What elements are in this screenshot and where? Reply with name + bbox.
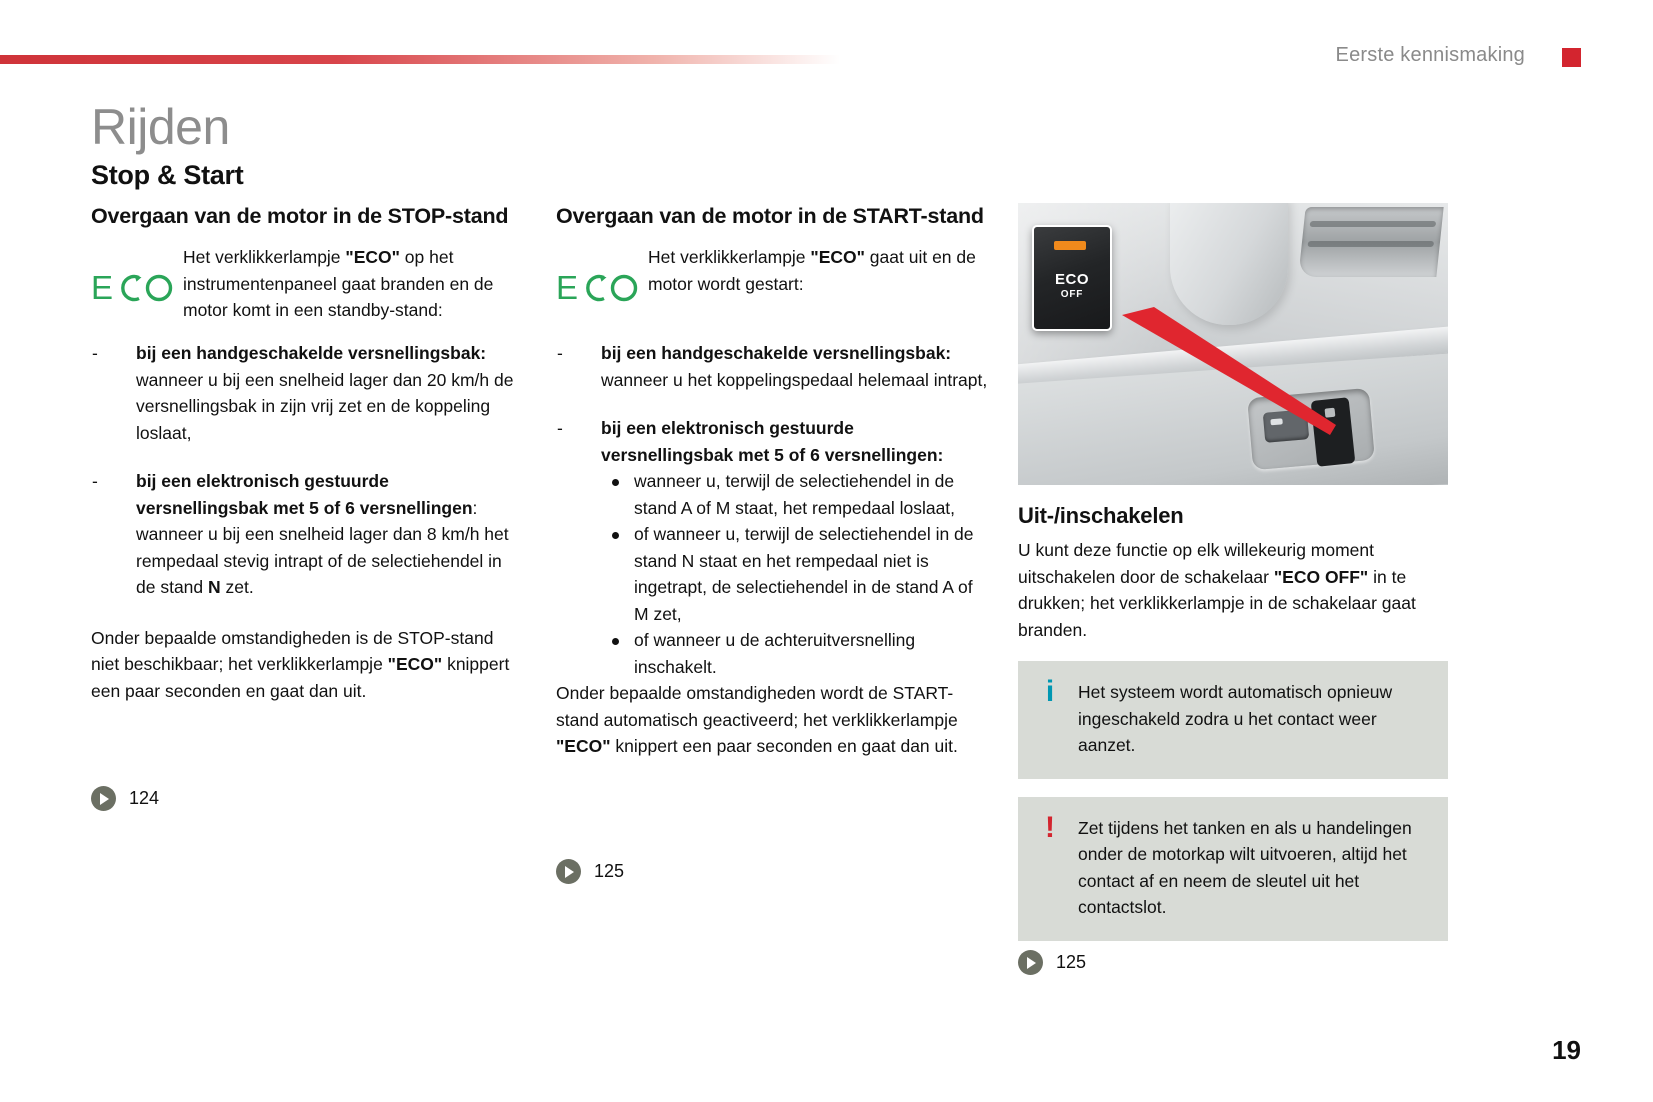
warning-note-box: ! Zet tijdens het tanken en als u handel…	[1018, 797, 1448, 941]
svg-text:E: E	[556, 270, 578, 306]
page-reference-number: 125	[594, 861, 624, 882]
bullet-stop-auto: - bij een elektronisch gestuurde versnel…	[91, 468, 523, 601]
info-note-text: Het systeem wordt automatisch opnieuw in…	[1078, 679, 1428, 759]
bullet-stop-auto-label: bij een elektronisch gestuurde versnelli…	[136, 471, 473, 518]
sub-bullet-item: of wanneer u de achteruitversnelling ins…	[612, 627, 988, 680]
gear-position-n: N	[208, 577, 221, 597]
eco-intro-stop-text: Het verklikkerlampje "ECO" op het instru…	[183, 244, 523, 324]
eco-off-led-indicator	[1054, 241, 1086, 250]
eco-off-button-callout: ECO OFF	[1032, 225, 1112, 331]
heading-start: Overgaan van de motor in de START-stand	[556, 203, 988, 230]
page-ref-arrow-icon	[91, 786, 116, 811]
heading-stop: Overgaan van de motor in de STOP-stand	[91, 203, 523, 230]
warning-note-text: Zet tijdens het tanken en als u handelin…	[1078, 815, 1428, 921]
eco-logo-icon: E	[556, 270, 642, 306]
sub-bullet-item: wanneer u, terwijl de selectiehendel in …	[612, 468, 988, 521]
dash-marker: -	[92, 340, 98, 367]
column-start: Overgaan van de motor in de START-stand …	[556, 203, 988, 760]
column-enable-disable: ECO OFF Uit-/inschakelen U kunt deze fun…	[1018, 203, 1448, 941]
dash-marker: -	[557, 340, 563, 367]
header-accent-rule	[0, 55, 840, 64]
info-note-box: i Het systeem wordt automatisch opnieuw …	[1018, 661, 1448, 779]
bullet-start-auto: - bij een elektronisch gestuurde versnel…	[556, 415, 988, 468]
section-color-marker	[1562, 48, 1581, 67]
dash-marker: -	[557, 415, 563, 442]
paragraph-start-note: Onder bepaalde omstandigheden wordt de S…	[556, 680, 988, 760]
folio-page-number: 19	[1552, 1035, 1581, 1066]
sub-bullet-list: wanneer u, terwijl de selectiehendel in …	[556, 468, 988, 680]
heading-uit-inschakelen: Uit-/inschakelen	[1018, 503, 1448, 529]
paragraph-enable-disable: U kunt deze functie op elk willekeurig m…	[1018, 537, 1448, 643]
page-reference-125-enable[interactable]: 125	[1018, 950, 1086, 975]
page-ref-arrow-icon	[556, 859, 581, 884]
dashboard-photo: ECO OFF	[1018, 203, 1448, 485]
info-icon: i	[1038, 679, 1062, 759]
bullet-start-auto-label: bij een elektronisch gestuurde versnelli…	[601, 418, 943, 465]
eco-off-button-label-bottom: OFF	[1034, 289, 1110, 300]
bullet-start-manual-text: wanneer u het koppelingspedaal helemaal …	[601, 370, 987, 390]
sub-bullet-item: of wanneer u, terwijl de selectiehendel …	[612, 521, 988, 627]
page-reference-number: 125	[1056, 952, 1086, 973]
column-stop: Overgaan van de motor in de STOP-stand E…	[91, 203, 523, 704]
eco-off-button-label-top: ECO	[1034, 271, 1110, 288]
page-ref-arrow-icon	[1018, 950, 1043, 975]
paragraph-stop-note: Onder bepaalde omstandigheden is de STOP…	[91, 625, 523, 705]
page-subtitle: Stop & Start	[91, 160, 243, 191]
svg-text:E: E	[91, 270, 113, 306]
page-reference-124[interactable]: 124	[91, 786, 159, 811]
bullet-start-manual: - bij een handgeschakelde versnellingsba…	[556, 340, 988, 393]
page-reference-125-start[interactable]: 125	[556, 859, 624, 884]
eco-intro-stop: E Het verklikkerlampje "ECO" op het inst…	[91, 244, 523, 330]
eco-intro-start-text: Het verklikkerlampje "ECO" gaat uit en d…	[648, 244, 988, 297]
bullet-start-manual-label: bij een handgeschakelde versnellingsbak:	[601, 343, 951, 363]
page-title: Rijden	[91, 98, 230, 156]
bullet-stop-auto-tail: zet.	[221, 577, 254, 597]
dash-marker: -	[92, 468, 98, 495]
warning-icon: !	[1038, 815, 1062, 921]
bullet-stop-manual-text: wanneer u bij een snelheid lager dan 20 …	[136, 370, 513, 443]
page-reference-number: 124	[129, 788, 159, 809]
section-title: Eerste kennismaking	[1336, 44, 1525, 67]
eco-intro-start: E Het verklikkerlampje "ECO" gaat uit en…	[556, 244, 988, 330]
bullet-stop-manual-label: bij een handgeschakelde versnellingsbak:	[136, 343, 486, 363]
bullet-stop-manual: - bij een handgeschakelde versnellingsba…	[91, 340, 523, 446]
eco-logo-icon: E	[91, 270, 177, 306]
